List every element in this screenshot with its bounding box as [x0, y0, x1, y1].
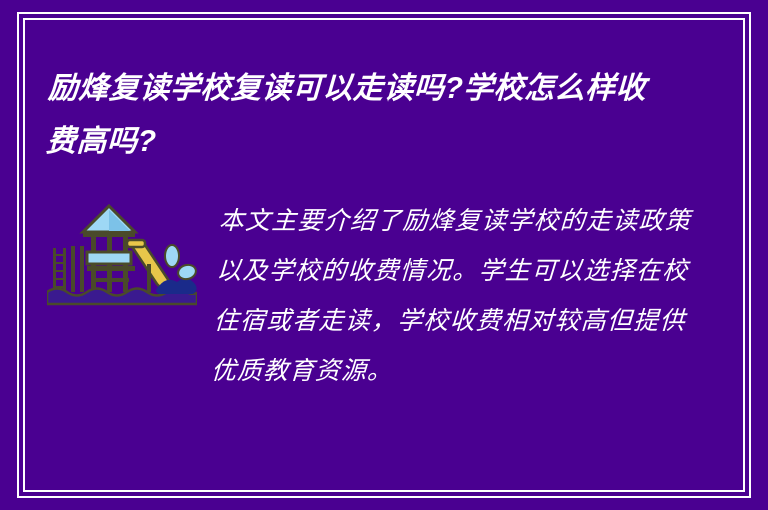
body-block: 本文主要介绍了励烽复读学校的走读政策以及学校的收费情况。学生可以选择在校住宿或者…	[47, 196, 687, 396]
poster-content: 励烽复读学校复读可以走读吗?学校怎么样收费高吗?	[0, 0, 768, 510]
poster-canvas: 励烽复读学校复读可以走读吗?学校怎么样收费高吗?	[0, 0, 768, 510]
water-playground-slide-icon	[47, 200, 197, 310]
page-title: 励烽复读学校复读可以走读吗?学校怎么样收费高吗?	[45, 62, 649, 168]
body-paragraph: 本文主要介绍了励烽复读学校的走读政策以及学校的收费情况。学生可以选择在校住宿或者…	[192, 196, 692, 396]
